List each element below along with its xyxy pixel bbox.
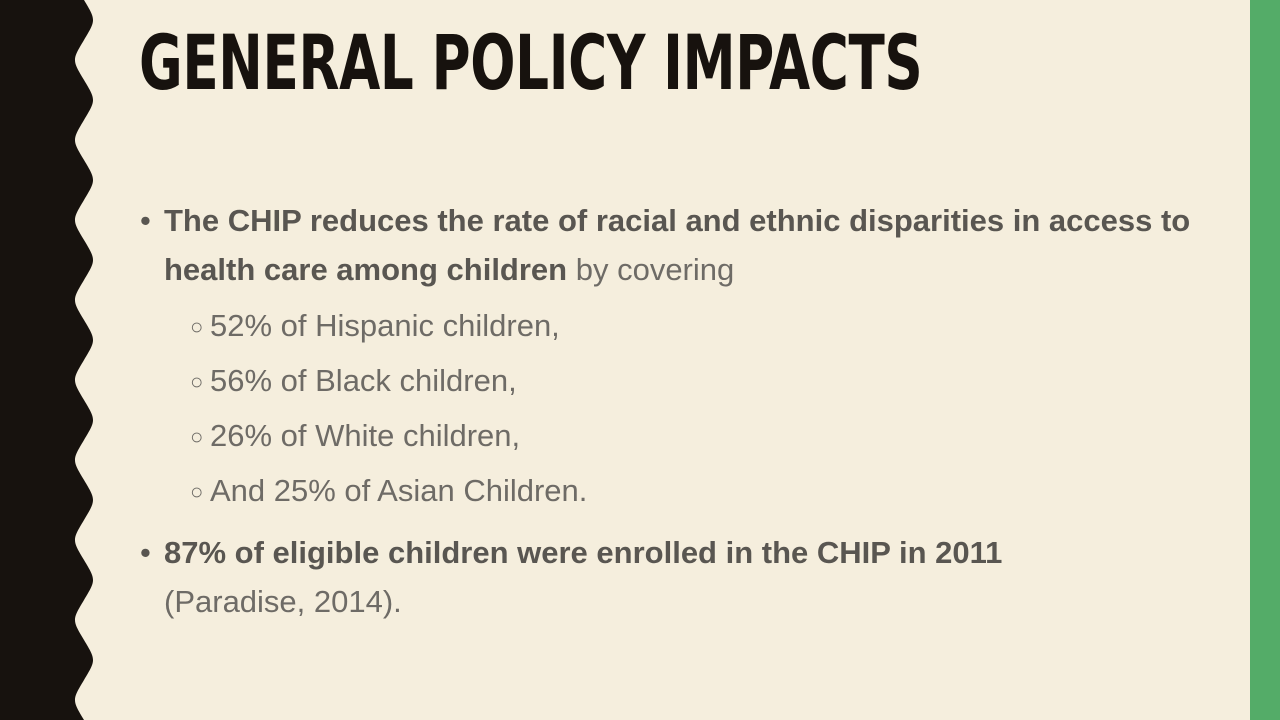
slide-title: GENERAL POLICY IMPACTS	[139, 22, 881, 104]
sub-bullet-text: 26% of White children,	[210, 418, 520, 453]
sub-bullet-item-white: ○ 26% of White children,	[136, 408, 1226, 463]
bullet-2-bold-text: 87% of eligible children were enrolled i…	[164, 535, 1002, 570]
left-wavy-panel-decoration	[0, 0, 110, 720]
right-accent-bar	[1250, 0, 1280, 720]
sub-bullet-text: 56% of Black children,	[210, 363, 517, 398]
bullet-item-2: • 87% of eligible children were enrolled…	[136, 528, 1226, 626]
sub-bullet-list: ○ 52% of Hispanic children, ○ 56% of Bla…	[136, 298, 1226, 518]
bullet-2-citation: (Paradise, 2014).	[164, 577, 1226, 626]
slide-body: • The CHIP reduces the rate of racial an…	[136, 196, 1226, 628]
bullet-marker-icon: •	[140, 528, 151, 577]
circle-bullet-icon: ○	[190, 353, 203, 410]
circle-bullet-icon: ○	[190, 298, 203, 355]
sub-bullet-item-black: ○ 56% of Black children,	[136, 353, 1226, 408]
sub-bullet-item-asian: ○ And 25% of Asian Children.	[136, 463, 1226, 518]
bullet-1-regular-text: by covering	[567, 252, 734, 287]
bullet-item-1: • The CHIP reduces the rate of racial an…	[136, 196, 1226, 294]
sub-bullet-item-hispanic: ○ 52% of Hispanic children,	[136, 298, 1226, 353]
bullet-marker-icon: •	[140, 196, 151, 245]
sub-bullet-text: And 25% of Asian Children.	[210, 473, 587, 508]
sub-bullet-text: 52% of Hispanic children,	[210, 308, 560, 343]
circle-bullet-icon: ○	[190, 463, 203, 520]
circle-bullet-icon: ○	[190, 408, 203, 465]
slide: GENERAL POLICY IMPACTS • The CHIP reduce…	[0, 0, 1280, 720]
